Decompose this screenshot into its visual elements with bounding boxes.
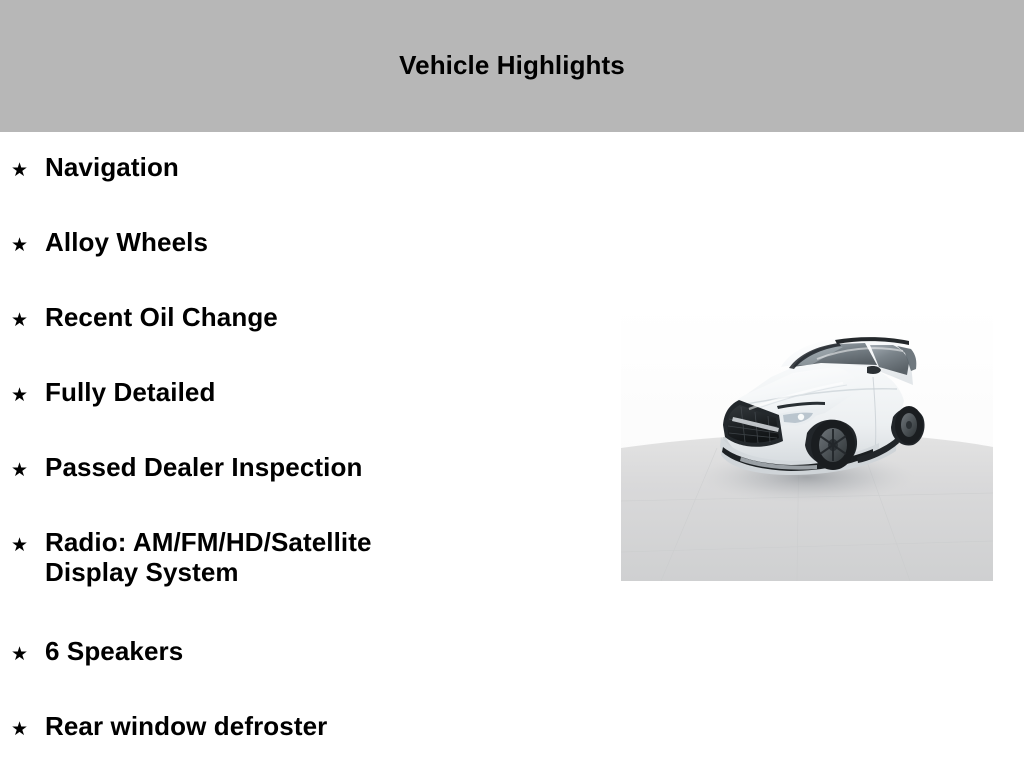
header-bar: Vehicle Highlights	[0, 0, 1024, 132]
vehicle-photo-graphic	[621, 305, 993, 581]
content-area: ★ Navigation ★ Alloy Wheels ★ Recent Oil…	[0, 132, 1024, 768]
highlight-label: Fully Detailed	[45, 377, 600, 407]
star-bullet-icon: ★	[11, 645, 30, 664]
headlight-projector	[798, 414, 804, 420]
rear-wheel-hub	[906, 421, 912, 429]
vehicle-photo	[621, 305, 993, 581]
list-item: ★ 6 Speakers	[0, 616, 600, 691]
star-bullet-icon: ★	[11, 161, 30, 180]
highlight-label: Radio: AM/FM/HD/Satellite Display System	[45, 527, 600, 587]
list-item: ★ Passed Dealer Inspection	[0, 432, 600, 507]
star-bullet-icon: ★	[11, 536, 30, 555]
list-item: ★ Fully Detailed	[0, 357, 600, 432]
star-bullet-icon: ★	[11, 386, 30, 405]
star-bullet-icon: ★	[11, 461, 30, 480]
list-item: ★ Rear window defroster	[0, 691, 600, 766]
highlight-label: Rear window defroster	[45, 711, 600, 741]
list-item: ★ Alloy Wheels	[0, 207, 600, 282]
list-item: ★ Recent Oil Change	[0, 282, 600, 357]
page-title: Vehicle Highlights	[399, 52, 625, 78]
highlight-label: Navigation	[45, 152, 600, 182]
star-bullet-icon: ★	[11, 236, 30, 255]
vehicle-highlights-list: ★ Navigation ★ Alloy Wheels ★ Recent Oil…	[0, 132, 600, 766]
list-item: ★ Navigation	[0, 132, 600, 207]
star-bullet-icon: ★	[11, 720, 30, 739]
highlight-label: 6 Speakers	[45, 636, 600, 666]
list-item: ★ Radio: AM/FM/HD/Satellite Display Syst…	[0, 507, 600, 616]
highlight-label: Passed Dealer Inspection	[45, 452, 600, 482]
highlight-label: Alloy Wheels	[45, 227, 600, 257]
star-bullet-icon: ★	[11, 311, 30, 330]
highlight-label: Recent Oil Change	[45, 302, 600, 332]
